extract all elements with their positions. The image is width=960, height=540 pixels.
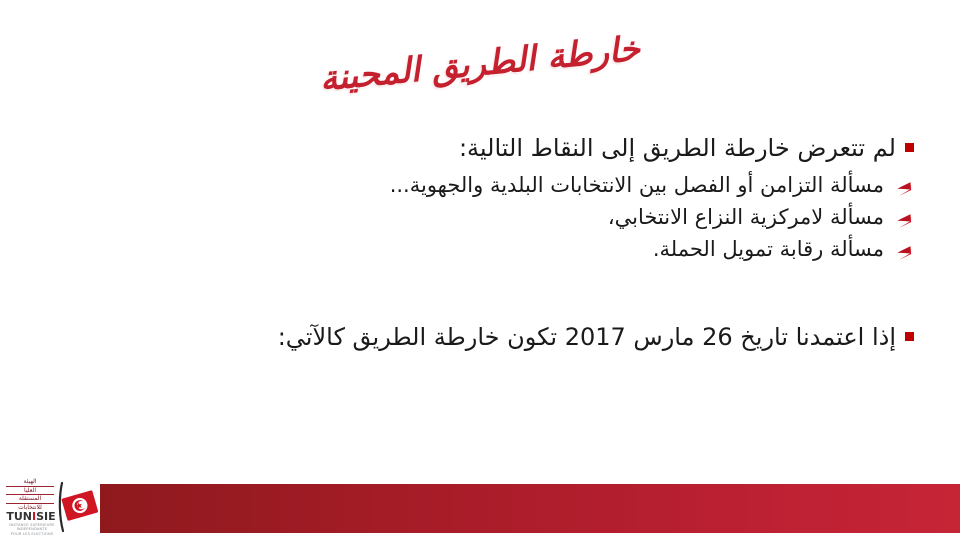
slide-title: خارطة الطريق المحينة (0, 0, 959, 130)
logo-wordmark-prefix: TUN (6, 510, 32, 523)
arrow-bullet-icon (886, 203, 920, 231)
tunisia-flag-icon (56, 480, 100, 534)
footer-red-bar (100, 484, 960, 533)
bullet-item-1: لم تتعرض خارطة الطريق إلى النقاط التالية… (40, 132, 920, 165)
logo-arabic-name: الهيئة العليا المستقلة للانتخابات (6, 478, 54, 511)
bullet-text-5: إذا اعتمدنا تاريخ 26 مارس 2017 تكون خارط… (40, 321, 898, 354)
body-spacer (40, 267, 920, 321)
bullet-item-4: مسألة رقابة تمويل الحملة. (40, 235, 920, 265)
bullet-item-5: إذا اعتمدنا تاريخ 26 مارس 2017 تكون خارط… (40, 321, 920, 354)
slide-canvas: خارطة الطريق المحينة لم تتعرض خارطة الطر… (0, 0, 960, 540)
logo-wordmark-suffix: SIE (36, 510, 56, 523)
arrow-bullet-icon (886, 235, 920, 263)
logo-arabic-line-2: العليا (6, 487, 54, 496)
logo-arabic-line-3: المستقلة (6, 495, 54, 504)
slide-body: لم تتعرض خارطة الطريق إلى النقاط التالية… (40, 132, 920, 360)
bullet-item-2: مسألة التزامن أو الفصل بين الانتخابات ال… (40, 171, 920, 201)
logo-arabic-line-1: الهيئة (6, 478, 54, 487)
square-bullet-icon (898, 132, 920, 152)
logo-wordmark: TUNISIE (6, 510, 56, 523)
bullet-item-3: مسألة لامركزية النزاع الانتخابي، (40, 203, 920, 233)
arrow-bullet-icon (886, 171, 920, 199)
bullet-text-4: مسألة رقابة تمويل الحملة. (40, 235, 886, 265)
square-bullet-icon (898, 321, 920, 341)
bullet-text-1: لم تتعرض خارطة الطريق إلى النقاط التالية… (40, 132, 898, 165)
slide-footer: الهيئة العليا المستقلة للانتخابات TUNISI… (0, 468, 960, 540)
isie-logo: الهيئة العليا المستقلة للانتخابات TUNISI… (4, 476, 100, 536)
bullet-text-3: مسألة لامركزية النزاع الانتخابي، (40, 203, 886, 233)
bullet-text-2: مسألة التزامن أو الفصل بين الانتخابات ال… (40, 171, 886, 201)
logo-french-line-3: POUR LES ELECTIONS (6, 532, 58, 536)
logo-french-name: INSTANCE SUPERIEURE INDEPENDANTE POUR LE… (6, 523, 58, 536)
